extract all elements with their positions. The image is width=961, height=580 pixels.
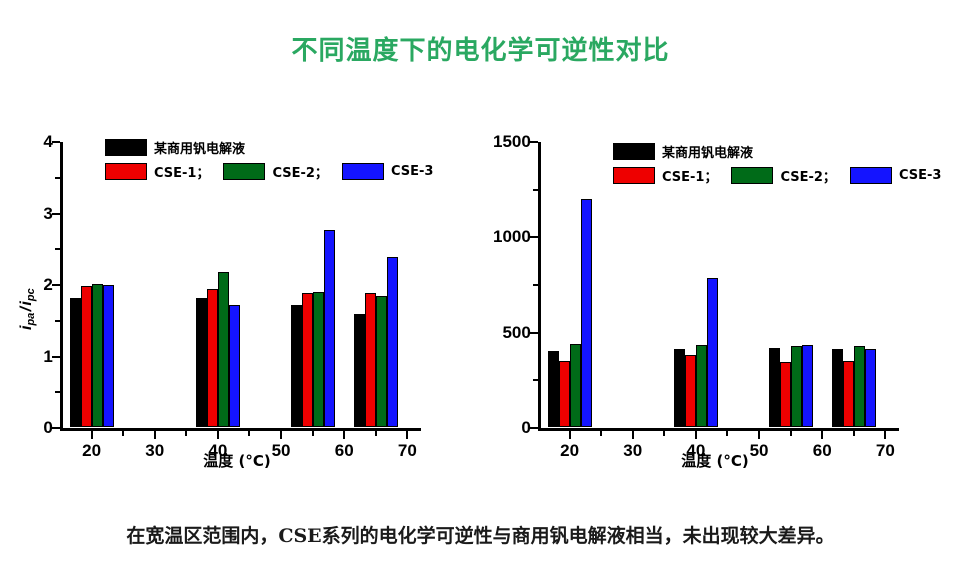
slide-caption: 在宽温区范围内，CSE系列的电化学可逆性与商用钒电解液相当，未出现较大差异。 — [0, 521, 961, 548]
y-tick-minor — [55, 391, 60, 393]
bar — [707, 278, 718, 427]
bar — [81, 286, 92, 427]
y-tick-minor — [533, 189, 538, 191]
x-tick-major — [884, 431, 886, 439]
y-tick-label: 2 — [43, 275, 52, 295]
bar — [354, 314, 365, 427]
legend-row: 某商用钒电解液 — [105, 138, 447, 157]
bar — [376, 296, 387, 427]
x-axis-line-right — [538, 428, 899, 431]
y-tick-major — [52, 284, 60, 286]
x-tick-minor — [726, 431, 728, 436]
bar — [802, 345, 813, 427]
y-tick-major — [530, 332, 538, 334]
bar — [843, 361, 854, 427]
bar — [791, 346, 802, 427]
x-tick-major — [91, 431, 93, 439]
bar — [581, 199, 592, 427]
bar — [313, 292, 324, 427]
slide-canvas: 不同温度下的电化学可逆性对比 01234203040506070 温度 (°C)… — [0, 0, 961, 580]
legend-swatch-cse-3 — [342, 163, 384, 180]
legend-row: CSE-1；CSE-2；CSE-3 — [613, 166, 955, 185]
legend-row: CSE-1；CSE-2；CSE-3 — [105, 162, 447, 181]
y-tick-major — [530, 236, 538, 238]
x-tick-minor — [663, 431, 665, 436]
bar — [207, 289, 218, 427]
legend-row: 某商用钒电解液 — [613, 142, 955, 161]
y-tick-label: 0 — [521, 418, 530, 438]
y-tick-major — [52, 356, 60, 358]
y-tick-label: 1500 — [493, 132, 531, 152]
x-tick-major — [695, 431, 697, 439]
legend-label-commercial: 某商用钒电解液 — [154, 138, 245, 157]
bar — [218, 272, 229, 427]
y-tick-major — [52, 213, 60, 215]
x-tick-major — [343, 431, 345, 439]
y-tick-minor — [533, 379, 538, 381]
bar — [685, 355, 696, 427]
x-tick-major — [569, 431, 571, 439]
x-tick-minor — [600, 431, 602, 436]
x-tick-major — [406, 431, 408, 439]
y-tick-label: 3 — [43, 204, 52, 224]
chart-panel-left: 01234203040506070 温度 (°C) ipa / ipc 某商用钒… — [2, 120, 472, 480]
bar — [70, 298, 81, 427]
x-axis-line-left — [60, 428, 421, 431]
legend-swatch-cse-1 — [613, 167, 655, 184]
bar — [229, 305, 240, 427]
y-tick-major — [52, 141, 60, 143]
y-tick-label: 0 — [43, 418, 52, 438]
legend-left: 某商用钒电解液CSE-1；CSE-2；CSE-3 — [105, 138, 447, 186]
legend-label-cse-2: CSE-2； — [272, 162, 327, 181]
x-tick-minor — [790, 431, 792, 436]
bar — [769, 348, 780, 427]
bar — [696, 345, 707, 427]
legend-label-cse-1: CSE-1； — [154, 162, 209, 181]
x-tick-major — [632, 431, 634, 439]
bar — [854, 346, 865, 427]
bar — [365, 293, 376, 427]
bar — [832, 349, 843, 427]
x-tick-minor — [375, 431, 377, 436]
legend-swatch-cse-1 — [105, 163, 147, 180]
chart-panel-right: 050010001500203040506070 温度 (°C) ΔEp (mV… — [480, 120, 950, 480]
legend-swatch-cse-3 — [850, 167, 892, 184]
bar — [103, 285, 114, 427]
y-tick-major — [530, 141, 538, 143]
y-tick-major — [52, 427, 60, 429]
page-title: 不同温度下的电化学可逆性对比 — [0, 30, 961, 67]
bar — [780, 362, 791, 427]
bar — [196, 298, 207, 427]
x-tick-major — [217, 431, 219, 439]
legend-label-commercial: 某商用钒电解液 — [662, 142, 753, 161]
y-axis-line-right — [538, 142, 541, 431]
legend-label-cse-2: CSE-2； — [780, 166, 835, 185]
x-tick-minor — [248, 431, 250, 436]
bar — [302, 293, 313, 427]
y-axis-title-left: ipa / ipc — [18, 288, 37, 330]
legend-swatch-cse-2 — [223, 163, 265, 180]
legend-right: 某商用钒电解液CSE-1；CSE-2；CSE-3 — [613, 142, 955, 190]
legend-label-cse-1: CSE-1； — [662, 166, 717, 185]
x-tick-major — [758, 431, 760, 439]
y-tick-label: 1000 — [493, 227, 531, 247]
legend-label-cse-3: CSE-3 — [391, 164, 433, 179]
x-tick-minor — [122, 431, 124, 436]
y-tick-minor — [55, 248, 60, 250]
bar — [559, 361, 570, 427]
legend-swatch-commercial — [613, 143, 655, 160]
x-tick-major — [821, 431, 823, 439]
y-tick-label: 1 — [43, 347, 52, 367]
y-tick-major — [530, 427, 538, 429]
y-axis-title-left-text: ipa / ipc — [18, 288, 35, 330]
bar — [92, 284, 103, 427]
bar — [865, 349, 876, 427]
y-tick-minor — [533, 284, 538, 286]
x-tick-major — [154, 431, 156, 439]
bar — [324, 230, 335, 427]
y-tick-label: 500 — [502, 323, 530, 343]
legend-label-cse-3: CSE-3 — [899, 168, 941, 183]
y-tick-minor — [55, 177, 60, 179]
x-tick-minor — [853, 431, 855, 436]
legend-swatch-cse-2 — [731, 167, 773, 184]
bar — [570, 344, 581, 427]
y-tick-minor — [55, 320, 60, 322]
bar — [291, 305, 302, 427]
x-tick-major — [280, 431, 282, 439]
x-axis-title-left: 温度 (°C) — [2, 450, 472, 471]
bar — [674, 349, 685, 427]
y-axis-line-left — [60, 142, 63, 431]
bar — [387, 257, 398, 427]
bar — [548, 351, 559, 427]
x-tick-minor — [312, 431, 314, 436]
y-tick-label: 4 — [43, 132, 52, 152]
legend-swatch-commercial — [105, 139, 147, 156]
x-tick-minor — [185, 431, 187, 436]
x-axis-title-right: 温度 (°C) — [480, 450, 950, 471]
